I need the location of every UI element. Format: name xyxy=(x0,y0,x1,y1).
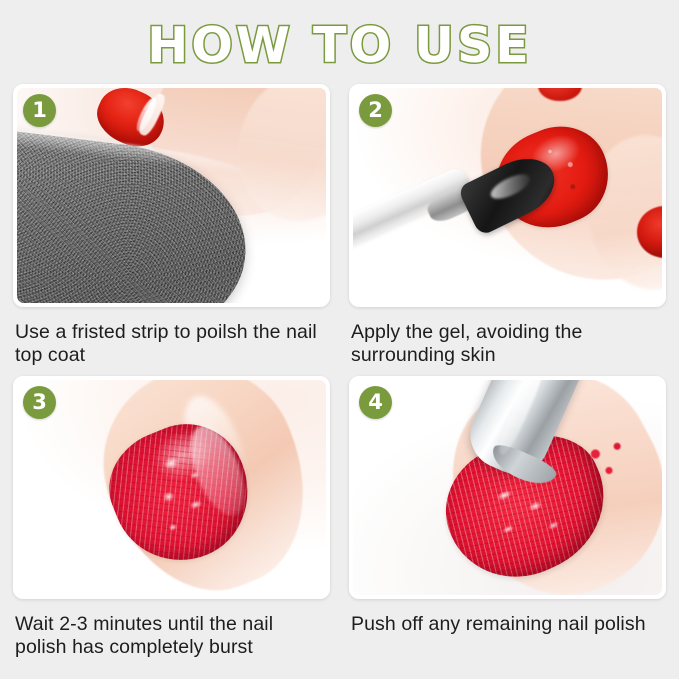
step-3-caption-cell: Wait 2-3 minutes until the nail polish h… xyxy=(13,599,330,668)
polish-chips xyxy=(575,432,643,488)
page-title: HOW TO USE xyxy=(147,21,531,70)
step-2-caption-cell: Apply the gel, avoiding the surrounding … xyxy=(349,307,666,376)
step-2-photo-cell: 2 xyxy=(349,84,666,307)
step-1-photo-cell: 1 xyxy=(13,84,330,307)
step-2-photo[interactable]: 2 xyxy=(349,84,666,307)
step-3-caption: Wait 2-3 minutes until the nail polish h… xyxy=(15,613,330,659)
step-4-photo-cell: 4 xyxy=(349,376,666,599)
step-4-photo[interactable]: 4 xyxy=(349,376,666,599)
step-3-badge: 3 xyxy=(23,386,56,419)
step-4-caption: Push off any remaining nail polish xyxy=(351,613,666,636)
step-1-badge: 1 xyxy=(23,94,56,127)
step-3-photo[interactable]: 3 xyxy=(13,376,330,599)
step-4-badge: 4 xyxy=(359,386,392,419)
page-title-banner: HOW TO USE xyxy=(0,14,679,76)
step-3-photo-cell: 3 xyxy=(13,376,330,599)
step-2-badge: 2 xyxy=(359,94,392,127)
step-1-photo[interactable]: 1 xyxy=(13,84,330,307)
step-4-caption-cell: Push off any remaining nail polish xyxy=(349,599,666,668)
step-1-caption: Use a fristed strip to poilsh the nail t… xyxy=(15,321,330,367)
step-1-caption-cell: Use a fristed strip to poilsh the nail t… xyxy=(13,307,330,376)
step-4-image xyxy=(353,380,662,595)
step-3-image xyxy=(17,380,326,595)
step-2-caption: Apply the gel, avoiding the surrounding … xyxy=(351,321,666,367)
step-1-image xyxy=(17,88,326,303)
step-2-image xyxy=(353,88,662,303)
steps-grid: 1 2 Use a fristed strip to poilsh the na… xyxy=(13,84,666,668)
